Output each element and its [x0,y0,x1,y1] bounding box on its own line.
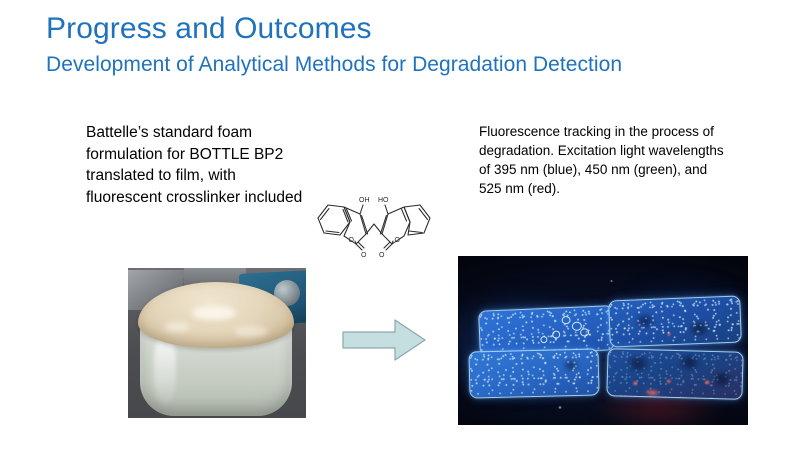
arrow-shape [343,320,425,360]
process-arrow-icon [339,312,429,368]
stray-speck [558,406,562,409]
film-sample-bottom-right [607,349,742,399]
film-speckle-texture [609,297,741,347]
film-sample-top-right [609,297,741,347]
red-fluorescence-spot [666,379,672,384]
page-subtitle: Development of Analytical Methods for De… [46,52,622,77]
film-speckle-texture [479,306,614,355]
left-caption-text: Battelle’s standard foam formulation for… [86,122,316,208]
film-sample-top-left [479,306,614,355]
fluorescence-films-photo [458,256,748,425]
label-hydroxyl-right: HO [378,197,389,204]
foam-highlight-2 [164,322,190,332]
stray-speck [730,300,733,303]
page-title: Progress and Outcomes [46,12,372,46]
label-hydroxyl-left: OH [359,197,370,204]
red-fluorescence-spot [704,380,711,385]
label-carbonyl-left: O [361,252,367,259]
film-dark-blotch [708,372,736,387]
foam-highlight-3 [234,326,268,337]
film-sample-bottom-left [469,349,598,397]
label-carbonyl-right: O [379,252,385,259]
foam-sample-photo [128,268,306,418]
foam-highlight-1 [192,306,236,320]
right-caption-text: Fluorescence tracking in the process of … [479,122,731,198]
label-ring-oxygen-right: O [395,237,401,244]
label-ring-oxygen-left: O [349,237,355,244]
chemical-structure-diagram: OH HO O O O O [308,178,440,262]
stray-speck [610,280,613,282]
film-speckle-texture [469,349,598,397]
slide-canvas: Progress and Outcomes Development of Ana… [0,0,800,450]
red-fluorescence-spot [632,381,639,386]
